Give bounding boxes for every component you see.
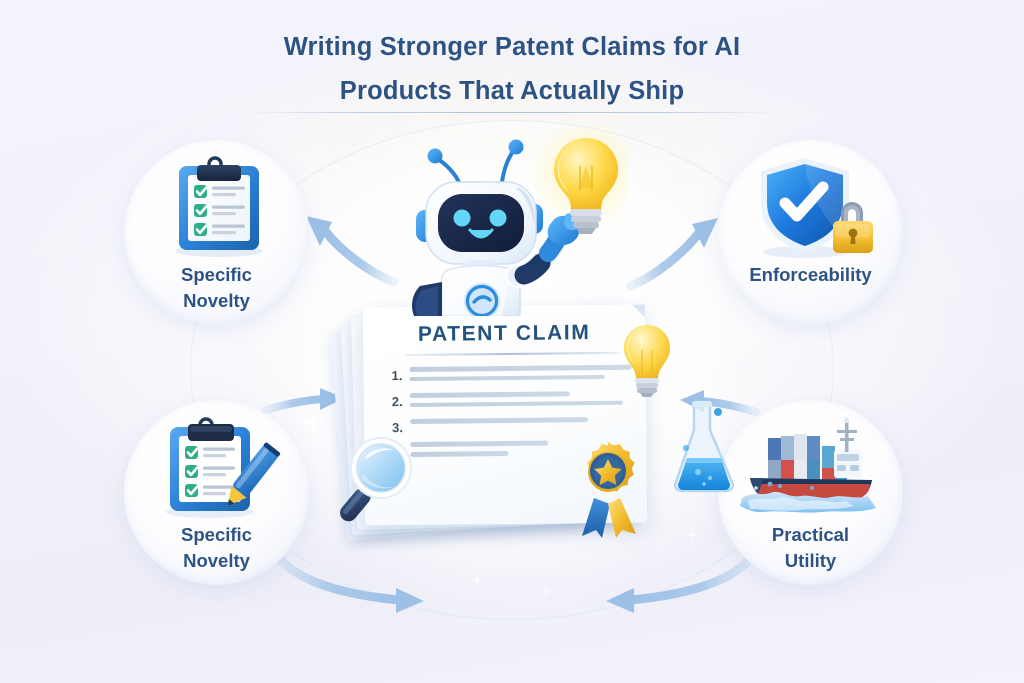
list-item: 1. (391, 365, 631, 387)
page-title-line-2: Products That Actually Ship (0, 70, 1024, 114)
sparkle-icon (470, 572, 485, 587)
ai-robot-mascot (398, 126, 628, 321)
lightbulb-prop (620, 322, 674, 403)
sparkle-icon (662, 300, 679, 317)
flask-prop (668, 398, 740, 499)
lightbulb-icon (620, 322, 674, 398)
arrow-left-to-center (266, 388, 344, 410)
sidebar-item-specific-novelty-top[interactable]: Specific Novelty (124, 140, 309, 325)
document-title-divider (405, 352, 619, 356)
magnifying-glass-prop (326, 436, 422, 533)
claim-number: 2. (392, 393, 410, 409)
claim-text-lines (410, 391, 632, 413)
sparkle-icon (640, 206, 660, 226)
sidebar-item-enforceability[interactable]: Enforceability (718, 140, 903, 325)
page-fold-corner (632, 305, 645, 318)
node-artwork (124, 148, 309, 264)
claim-text-lines (410, 417, 632, 429)
document-title: PATENT CLAIM (363, 321, 645, 348)
arrow-center-to-top-left (306, 216, 394, 282)
award-badge-icon (568, 440, 648, 540)
sidebar-item-practical-utility[interactable]: Practical Utility (718, 400, 903, 585)
page-title-line-1: Writing Stronger Patent Claims for AI (0, 26, 1024, 70)
sidebar-item-label: Specific Novelty (124, 522, 309, 575)
cargo-ship-icon (738, 412, 884, 520)
list-item: 2. (392, 391, 632, 413)
magnifying-glass-icon (326, 436, 422, 528)
claim-number: 3. (392, 419, 410, 435)
sparkle-icon (626, 252, 640, 266)
sparkle-icon (330, 176, 343, 189)
list-item: 3. (392, 417, 632, 436)
sparkle-icon (686, 528, 700, 542)
page-title: Writing Stronger Patent Claims for AI Pr… (0, 26, 1024, 114)
claim-text-lines (409, 365, 631, 387)
node-artwork (124, 408, 309, 524)
sidebar-item-label: Practical Utility (718, 522, 903, 575)
infographic-canvas: Writing Stronger Patent Claims for AI Pr… (0, 0, 1024, 683)
sidebar-item-label: Enforceability (718, 262, 903, 288)
sidebar-item-label: Specific Novelty (124, 262, 309, 315)
node-artwork (718, 148, 903, 264)
shield-check-lock-icon (745, 151, 877, 261)
award-badge-prop (568, 440, 648, 545)
node-artwork (718, 408, 903, 524)
claim-number: 1. (391, 367, 409, 383)
flask-icon (668, 398, 740, 494)
robot-icon (398, 126, 628, 316)
sidebar-item-specific-novelty-bottom[interactable]: Specific Novelty (124, 400, 309, 585)
title-divider (246, 112, 778, 113)
clipboard-checklist-pencil-icon (152, 411, 282, 521)
sparkle-icon (540, 586, 552, 598)
arrow-center-to-top-right (630, 218, 718, 286)
clipboard-checklist-icon (157, 152, 277, 260)
